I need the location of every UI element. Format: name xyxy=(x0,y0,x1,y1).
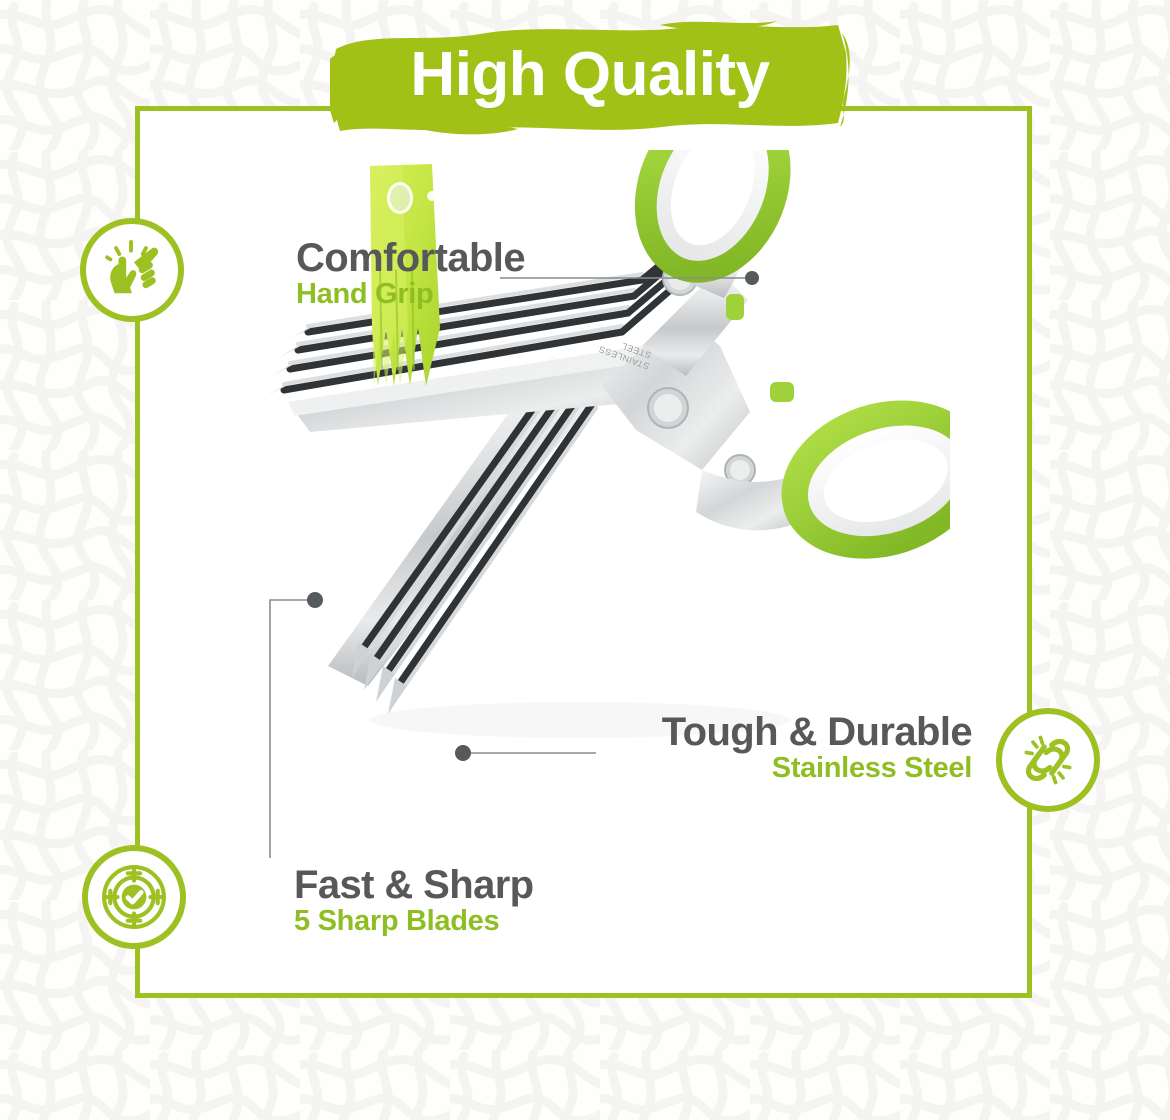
chain-link-icon xyxy=(1018,730,1078,790)
hand-grip-badge xyxy=(80,218,184,322)
callout-tough-durable-labels: Tough & Durable Stainless Steel xyxy=(662,712,972,785)
callout-tough-durable: Tough & Durable Stainless Steel xyxy=(440,700,1100,830)
title-banner: High Quality xyxy=(330,19,850,136)
chain-link-badge xyxy=(996,708,1100,812)
hand-grip-icon xyxy=(101,239,163,301)
callout-fast-sharp-labels: Fast & Sharp 5 Sharp Blades xyxy=(294,865,534,938)
page-title: High Quality xyxy=(330,19,850,136)
callout-tough-durable-subtitle: Stainless Steel xyxy=(662,752,972,785)
target-check-icon xyxy=(101,864,167,930)
callout-comfortable-title: Comfortable xyxy=(296,238,525,278)
callout-fast-sharp-subtitle: 5 Sharp Blades xyxy=(294,905,534,938)
target-check-badge xyxy=(82,845,186,949)
callout-tough-durable-title: Tough & Durable xyxy=(662,712,972,752)
callout-comfortable-subtitle: Hand Grip xyxy=(296,278,525,311)
callout-fast-sharp-title: Fast & Sharp xyxy=(294,865,534,905)
callout-fast-sharp: Fast & Sharp 5 Sharp Blades xyxy=(82,845,782,975)
callout-comfortable-labels: Comfortable Hand Grip xyxy=(296,238,525,311)
callout-comfortable: Comfortable Hand Grip xyxy=(80,218,800,348)
